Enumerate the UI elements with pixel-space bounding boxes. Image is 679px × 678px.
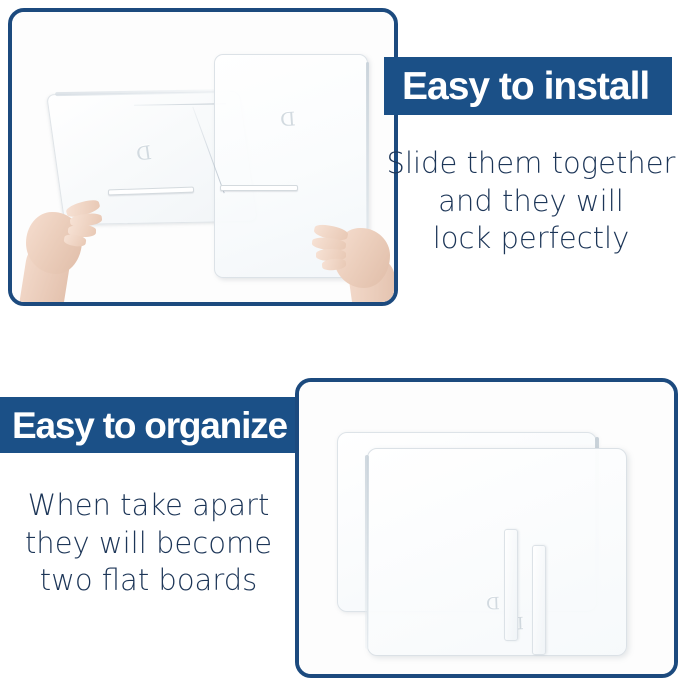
organize-description: When take apart they will become two fla… xyxy=(6,487,291,600)
board-slot-tab xyxy=(532,545,546,655)
panel-right-slot xyxy=(220,185,298,191)
brand-logo-icon: D xyxy=(279,107,296,127)
organize-photo-frame: D D xyxy=(295,378,678,678)
organize-banner: Easy to organize xyxy=(0,397,296,453)
right-hand xyxy=(308,208,394,302)
organize-description-line: they will become xyxy=(6,525,291,563)
organize-description-line: two flat boards xyxy=(6,562,291,600)
install-description-line: lock perfectly xyxy=(386,220,676,258)
organize-product-photo: D D xyxy=(299,382,674,674)
product-infographic: D D Easy to install Slide xyxy=(0,0,679,678)
organize-banner-label: Easy to organize xyxy=(12,407,287,444)
left-hand xyxy=(18,190,110,302)
organize-description-line: When take apart xyxy=(6,487,291,525)
brand-logo-icon: D xyxy=(135,141,153,162)
install-banner: Easy to install xyxy=(384,57,672,115)
install-description-line: Slide them together xyxy=(386,145,676,183)
flat-board-front: D D xyxy=(367,448,627,656)
brand-logo-icon: D xyxy=(486,593,500,610)
board-slot-tab xyxy=(504,529,518,641)
install-product-photo: D D xyxy=(12,12,394,302)
install-photo-frame: D D xyxy=(8,8,398,306)
install-description: Slide them together and they will lock p… xyxy=(386,145,676,258)
install-description-line: and they will xyxy=(386,183,676,221)
install-banner-label: Easy to install xyxy=(402,67,649,106)
